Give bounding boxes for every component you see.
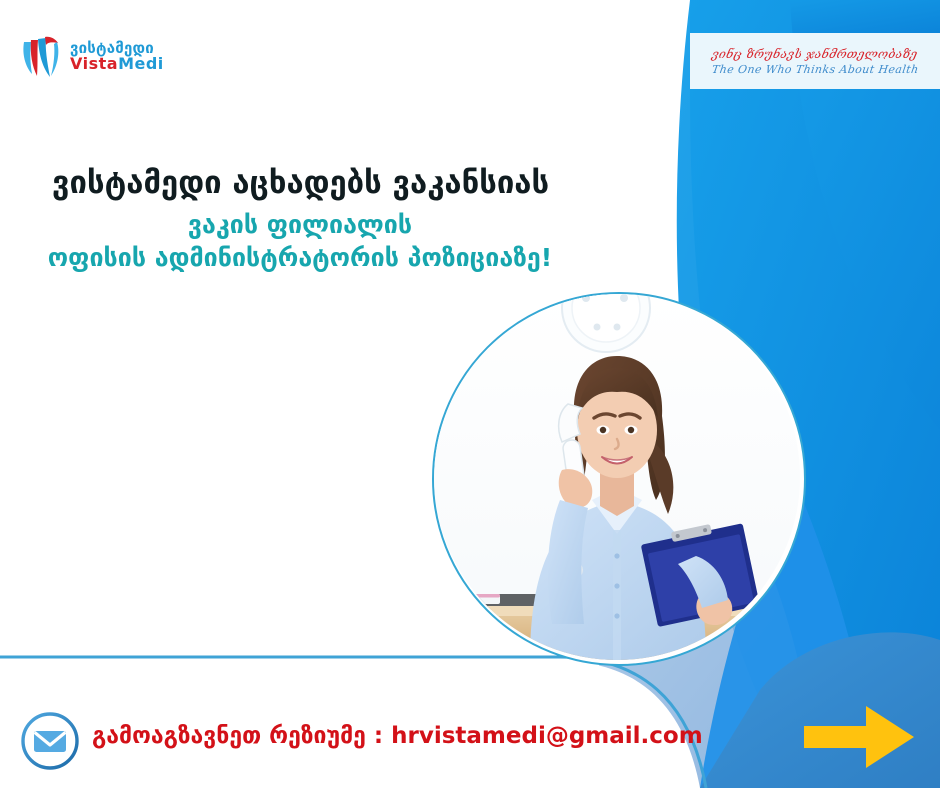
receptionist-photo: [432, 292, 806, 666]
vistamedi-logo: ვისტამედი VistaMedi: [18, 32, 164, 80]
arrow-right-icon: [800, 700, 920, 774]
slogan-band: ვინც ზრუნავს ჯანმრთელობაზე The One Who T…: [690, 33, 940, 89]
footer-contact: გამოაგზავნეთ რეზიუმე : hrvistamedi@gmail…: [92, 723, 703, 749]
footer-email[interactable]: hrvistamedi@gmail.com: [391, 723, 703, 749]
vacancy-poster: ვისტამედი VistaMedi ვინც ზრუნავს ჯანმრთე…: [0, 0, 940, 788]
page-title: ვისტამედი აცხადებს ვაკანსიას: [52, 165, 549, 201]
footer-label: გამოაგზავნეთ რეზიუმე :: [92, 723, 391, 749]
slogan-georgian: ვინც ზრუნავს ჯანმრთელობაზე: [711, 47, 918, 61]
subtitle-line-1: ვაკის ფილიალის: [0, 210, 600, 239]
envelope-icon: [20, 711, 80, 771]
vistamedi-mark-icon: [18, 32, 64, 80]
subtitle-line-2: ოფისის ადმინისტრატორის პოზიციაზე!: [0, 243, 600, 272]
logo-name-vista: Vista: [70, 54, 118, 73]
slogan-english: The One Who Thinks About Health: [711, 63, 919, 76]
logo-name-medi: Medi: [118, 54, 164, 73]
receptionist-illustration: [434, 294, 800, 660]
cta-arrow-button[interactable]: [800, 700, 920, 774]
